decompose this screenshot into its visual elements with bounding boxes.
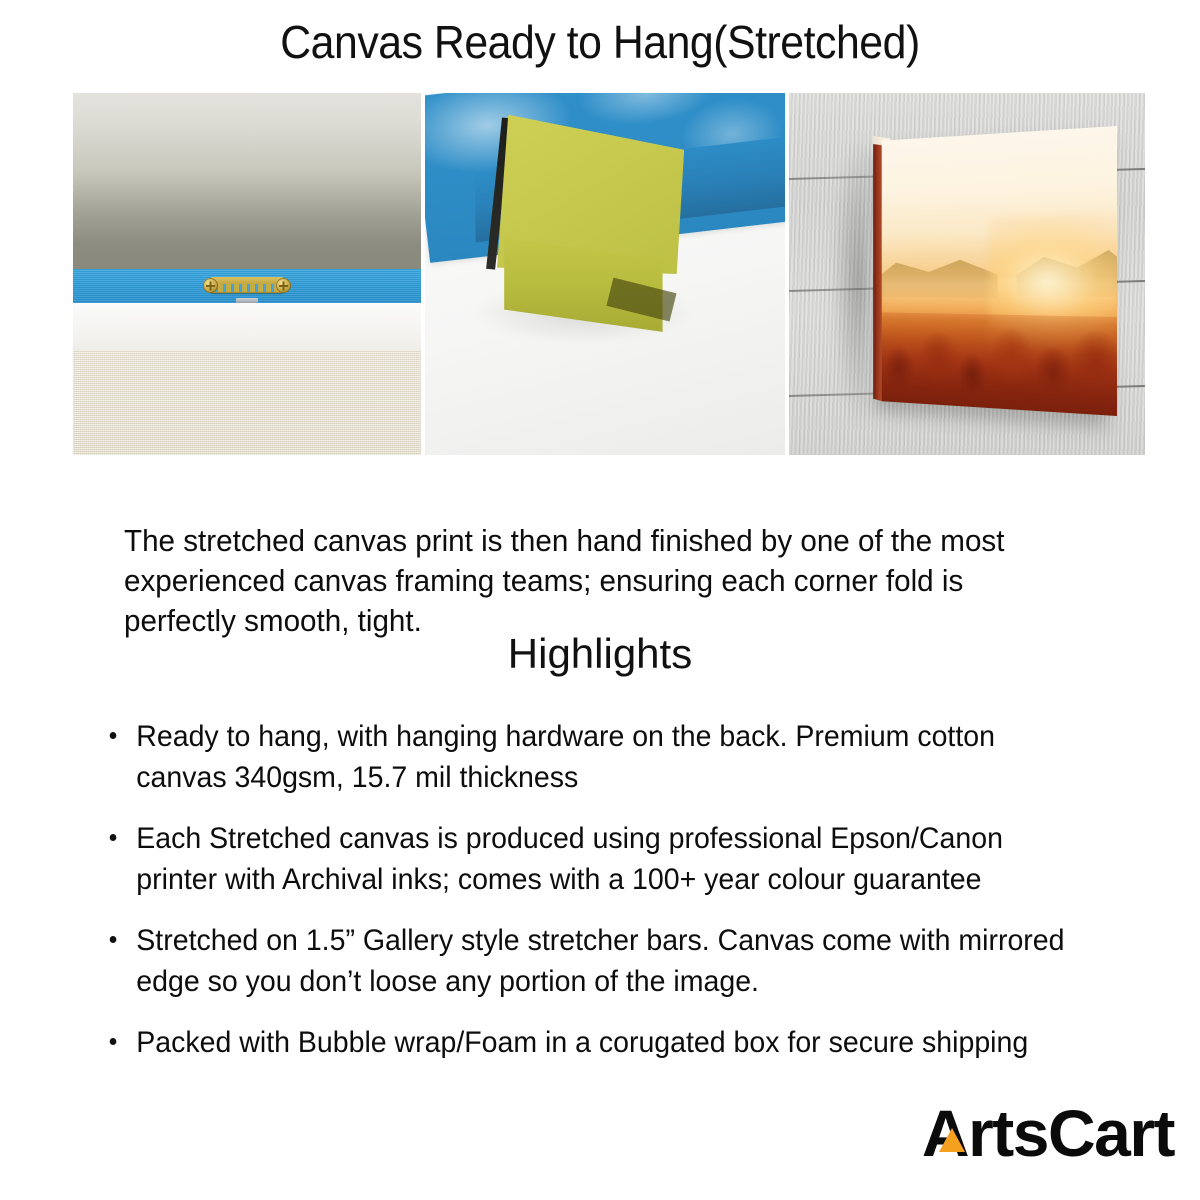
photo3-foreground-foliage [882, 312, 1117, 415]
hanger-teeth [215, 284, 279, 292]
bullet-dot-icon [110, 1038, 117, 1045]
brand-wordmark: ArtsCart [922, 1098, 1174, 1168]
highlights-heading: Highlights [0, 628, 1200, 680]
highlight-item: Packed with Bubble wrap/Foam in a coruga… [104, 1022, 1073, 1063]
page-title: Canvas Ready to Hang(Stretched) [42, 14, 1158, 70]
photo1-cotton-canvas [73, 351, 421, 455]
product-photo-strip [73, 93, 1145, 455]
hanger-screw-right [276, 278, 291, 293]
bullet-dot-icon [110, 732, 117, 739]
photo3-gallery-wrapped-canvas [882, 126, 1117, 416]
product-photo-wrapped-canvas-on-wall [789, 93, 1145, 455]
product-photo-folded-corner [425, 93, 785, 455]
highlight-item: Ready to hang, with hanging hardware on … [104, 716, 1073, 798]
highlight-item-text: Stretched on 1.5” Gallery style stretche… [136, 924, 1064, 998]
highlight-item-text: Ready to hang, with hanging hardware on … [136, 720, 995, 794]
photo3-hills-left [882, 254, 998, 298]
highlight-item-text: Each Stretched canvas is produced using … [136, 822, 1003, 896]
product-photo-canvas-back-hanger [73, 93, 421, 455]
bullet-dot-icon [110, 834, 117, 841]
highlights-list: Ready to hang, with hanging hardware on … [104, 716, 1124, 1083]
bullet-dot-icon [110, 936, 117, 943]
sawtooth-hanger-icon [201, 276, 293, 295]
highlight-item: Each Stretched canvas is produced using … [104, 818, 1073, 900]
photo3-canvas-depth-edge [873, 142, 882, 401]
photo3-canvas-shadow [832, 136, 868, 426]
intro-paragraph: The stretched canvas print is then hand … [124, 521, 1041, 641]
highlight-item-text: Packed with Bubble wrap/Foam in a coruga… [136, 1026, 1028, 1059]
photo1-white-band [73, 303, 421, 354]
hanger-screw-left [203, 278, 218, 293]
photo1-wall [73, 93, 421, 269]
hanger-clip [236, 298, 258, 303]
highlight-item: Stretched on 1.5” Gallery style stretche… [104, 920, 1073, 1002]
brand-logo: ArtsCart [922, 1098, 1174, 1168]
photo3-sunset-landscape-print [882, 126, 1117, 416]
